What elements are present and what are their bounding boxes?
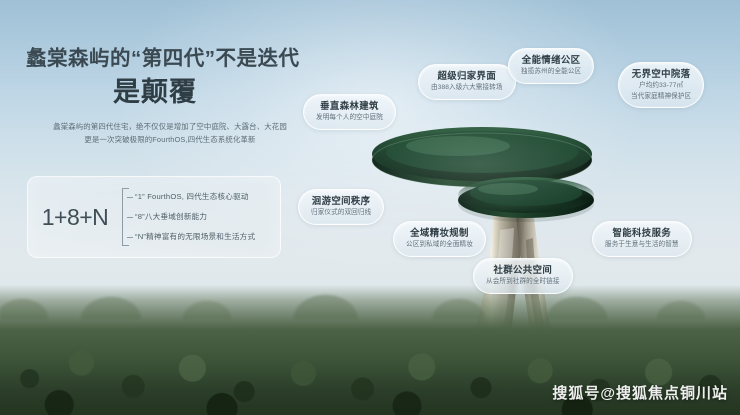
callout-subtitle: 归家仪式的双回归线 [311, 209, 371, 216]
card-item: “8”八大垂域创新能力 [135, 207, 274, 227]
headline-block: 蠡棠森屿的“第四代”不是迭代 是颠覆 [26, 46, 326, 108]
headline-line-2: 是颠覆 [26, 77, 284, 108]
callout-title: 全能情绪公区 [521, 55, 581, 65]
callout-subtitle: 发明每个人的空中庭院 [316, 114, 383, 121]
callout-title: 无界空中院落 [631, 69, 691, 79]
subtitle-line-2: 更是一次突破极限的FourthOS,四代生态系统化革新 [24, 134, 316, 147]
callout-title: 智能科技服务 [605, 228, 679, 238]
callout-title: 社群公共空间 [486, 265, 560, 275]
callout-subtitle: 从会所到社群的全时链接 [486, 278, 560, 285]
callout-super-return-home: 超级归家界面 由388入级六大需接转场 [418, 64, 516, 100]
one-eight-n-card: 1+8+N “1” FourthOS, 四代生态核心驱动 “8”八大垂域创新能力… [27, 176, 281, 258]
callout-title: 全域精妆规制 [406, 228, 473, 238]
callout-circulation-spatial-order: 洄游空间秩序 归家仪式的双回归线 [298, 189, 384, 225]
callout-community-public-space: 社群公共空间 从会所到社群的全时链接 [473, 258, 573, 294]
callout-subtitle: 公区到私域的全面精妆 [406, 241, 473, 248]
callout-subtitle-secondary: 当代家庭精神保护区 [631, 93, 691, 100]
card-item-list: “1” FourthOS, 四代生态核心驱动 “8”八大垂域创新能力 “N”精神… [135, 187, 280, 247]
headline-subtitle: 蠡棠森屿的第四代住宅，绝不仅仅是增加了空中庭院、大露台、大花园 更是一次突破极限… [24, 121, 316, 147]
subtitle-line-1: 蠡棠森屿的第四代住宅，绝不仅仅是增加了空中庭院、大露台、大花园 [24, 121, 316, 134]
callout-subtitle: 由388入级六大需接转场 [431, 84, 503, 91]
callout-smart-tech-service: 智能科技服务 服务于生意与生活的智慧 [592, 221, 692, 257]
callout-title: 超级归家界面 [431, 71, 503, 81]
callout-borderless-sky-courtyard: 无界空中院落 户均约33-77㎡ 当代家庭精神保护区 [618, 62, 704, 108]
card-item: “1” FourthOS, 四代生态核心驱动 [135, 187, 274, 207]
card-formula: 1+8+N [28, 204, 122, 231]
headline-line-1: 蠡棠森屿的“第四代”不是迭代 [26, 46, 326, 72]
callout-global-refined-planning: 全域精妆规制 公区到私域的全面精妆 [393, 221, 486, 257]
callout-subtitle: 独揽苏州的全能公区 [521, 68, 581, 75]
callout-title: 洄游空间秩序 [311, 196, 371, 206]
card-item: “N”精神富有的无限场景和生活方式 [135, 227, 274, 247]
promo-image-canvas: 蠡棠森屿的“第四代”不是迭代 是颠覆 蠡棠森屿的第四代住宅，绝不仅仅是增加了空中… [0, 0, 740, 415]
callout-title: 垂直森林建筑 [316, 101, 383, 111]
callout-vertical-forest: 垂直森林建筑 发明每个人的空中庭院 [303, 94, 396, 130]
callout-subtitle: 服务于生意与生活的智慧 [605, 241, 679, 248]
callout-omni-emotion-commons: 全能情绪公区 独揽苏州的全能公区 [508, 48, 594, 84]
callout-subtitle: 户均约33-77㎡ [631, 82, 691, 89]
watermark-label: 搜狐号@搜狐焦点铜川站 [552, 382, 728, 403]
